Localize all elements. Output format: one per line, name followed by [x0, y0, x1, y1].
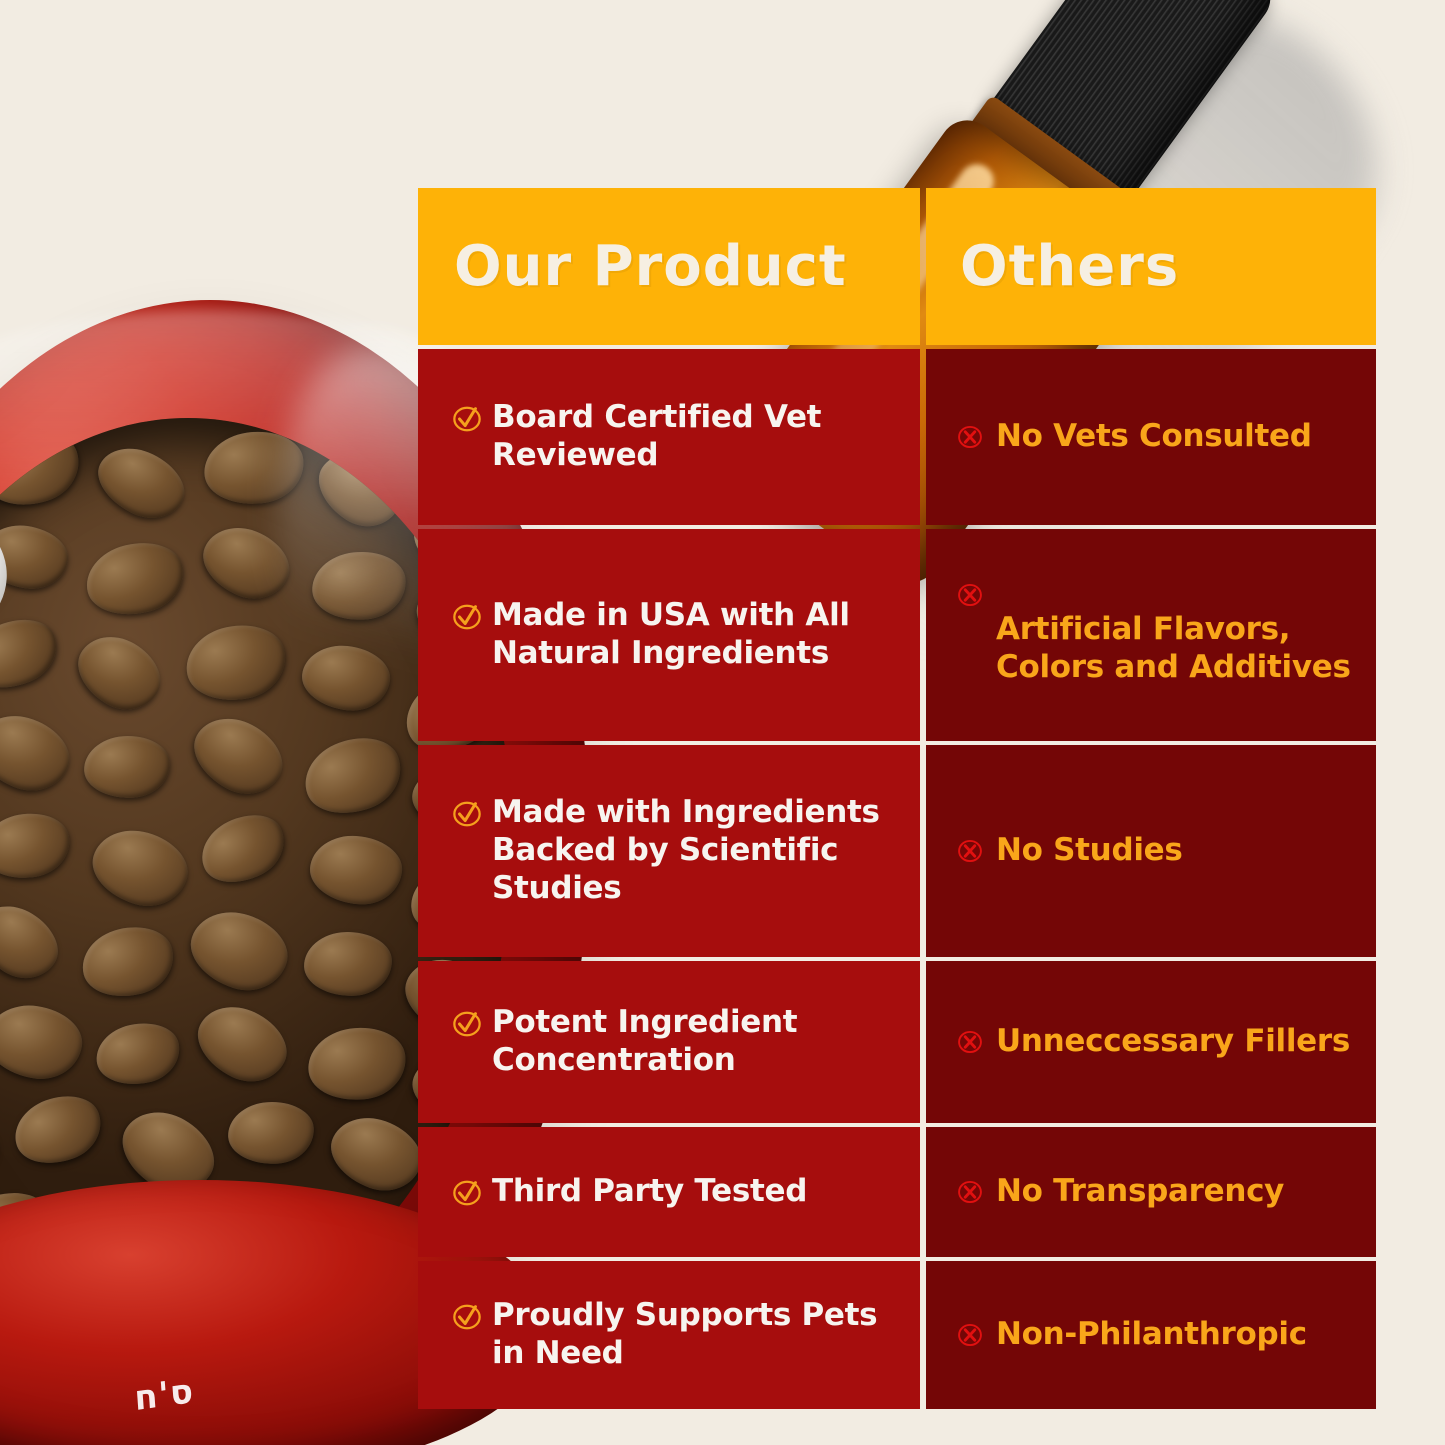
- good-cell: Potent Ingredient Concentration: [418, 961, 920, 1123]
- check-circle-icon: [452, 799, 482, 829]
- feature-item: Board Certified Vet Reviewed: [418, 399, 920, 475]
- x-circle-icon: [956, 837, 986, 867]
- header-cell-our-product: Our Product: [418, 188, 920, 345]
- drawback-text: Artificial Flavors, Colors and Additives: [996, 611, 1354, 687]
- table-row: Proudly Supports Pets in Need Non-Philan…: [418, 1261, 1376, 1409]
- drawback-text: Unneccessary Fillers: [996, 1023, 1350, 1061]
- feature-item: Third Party Tested: [418, 1173, 920, 1211]
- header-label-our-product: Our Product: [418, 234, 847, 299]
- good-cell: Made with Ingredients Backed by Scientif…: [418, 745, 920, 957]
- feature-text: Proudly Supports Pets in Need: [492, 1297, 898, 1373]
- table-row: Board Certified Vet Reviewed No Vets Con…: [418, 349, 1376, 525]
- drawback-text: No Vets Consulted: [996, 418, 1312, 456]
- header-label-others: Others: [926, 234, 1179, 299]
- x-circle-icon: [956, 581, 986, 611]
- check-circle-icon: [452, 602, 482, 632]
- drawback-item: No Transparency: [926, 1173, 1376, 1211]
- table-row: Third Party Tested No Transparency: [418, 1127, 1376, 1257]
- comparison-table: Our Product Others Board Certified Vet R…: [418, 188, 1376, 1409]
- table-row: Made in USA with All Natural Ingredients…: [418, 529, 1376, 741]
- drawback-item: No Studies: [926, 832, 1376, 870]
- feature-text: Made in USA with All Natural Ingredients: [492, 597, 898, 673]
- check-circle-icon: [452, 1302, 482, 1332]
- feature-item: Proudly Supports Pets in Need: [418, 1297, 920, 1373]
- x-circle-icon: [956, 1028, 986, 1058]
- bad-cell: Artificial Flavors, Colors and Additives: [926, 529, 1376, 741]
- drawback-text: No Transparency: [996, 1173, 1284, 1211]
- bad-cell: No Studies: [926, 745, 1376, 957]
- check-circle-icon: [452, 1178, 482, 1208]
- good-cell: Proudly Supports Pets in Need: [418, 1261, 920, 1409]
- x-circle-icon: [956, 1178, 986, 1208]
- bad-cell: No Transparency: [926, 1127, 1376, 1257]
- x-circle-icon: [956, 423, 986, 453]
- bad-cell: Unneccessary Fillers: [926, 961, 1376, 1123]
- drawback-text: No Studies: [996, 832, 1183, 870]
- drawback-text: Non-Philanthropic: [996, 1316, 1307, 1354]
- feature-text: Potent Ingredient Concentration: [492, 1004, 898, 1080]
- header-cell-others: Others: [926, 188, 1376, 345]
- feature-text: Third Party Tested: [492, 1173, 807, 1211]
- drawback-item: No Vets Consulted: [926, 418, 1376, 456]
- feature-item: Made in USA with All Natural Ingredients: [418, 597, 920, 673]
- feature-item: Potent Ingredient Concentration: [418, 1004, 920, 1080]
- feature-item: Made with Ingredients Backed by Scientif…: [418, 794, 920, 907]
- table-header-row: Our Product Others: [418, 188, 1376, 345]
- x-circle-icon: [956, 1321, 986, 1351]
- drawback-item: Artificial Flavors, Colors and Additives: [926, 583, 1376, 687]
- table-row: Made with Ingredients Backed by Scientif…: [418, 745, 1376, 957]
- good-cell: Made in USA with All Natural Ingredients: [418, 529, 920, 741]
- good-cell: Third Party Tested: [418, 1127, 920, 1257]
- check-circle-icon: [452, 404, 482, 434]
- drawback-item: Non-Philanthropic: [926, 1316, 1376, 1354]
- drawback-item: Unneccessary Fillers: [926, 1023, 1376, 1061]
- feature-text: Made with Ingredients Backed by Scientif…: [492, 794, 898, 907]
- check-circle-icon: [452, 1009, 482, 1039]
- good-cell: Board Certified Vet Reviewed: [418, 349, 920, 525]
- table-row: Potent Ingredient Concentration Unnecces…: [418, 961, 1376, 1123]
- feature-text: Board Certified Vet Reviewed: [492, 399, 898, 475]
- bad-cell: No Vets Consulted: [926, 349, 1376, 525]
- bad-cell: Non-Philanthropic: [926, 1261, 1376, 1409]
